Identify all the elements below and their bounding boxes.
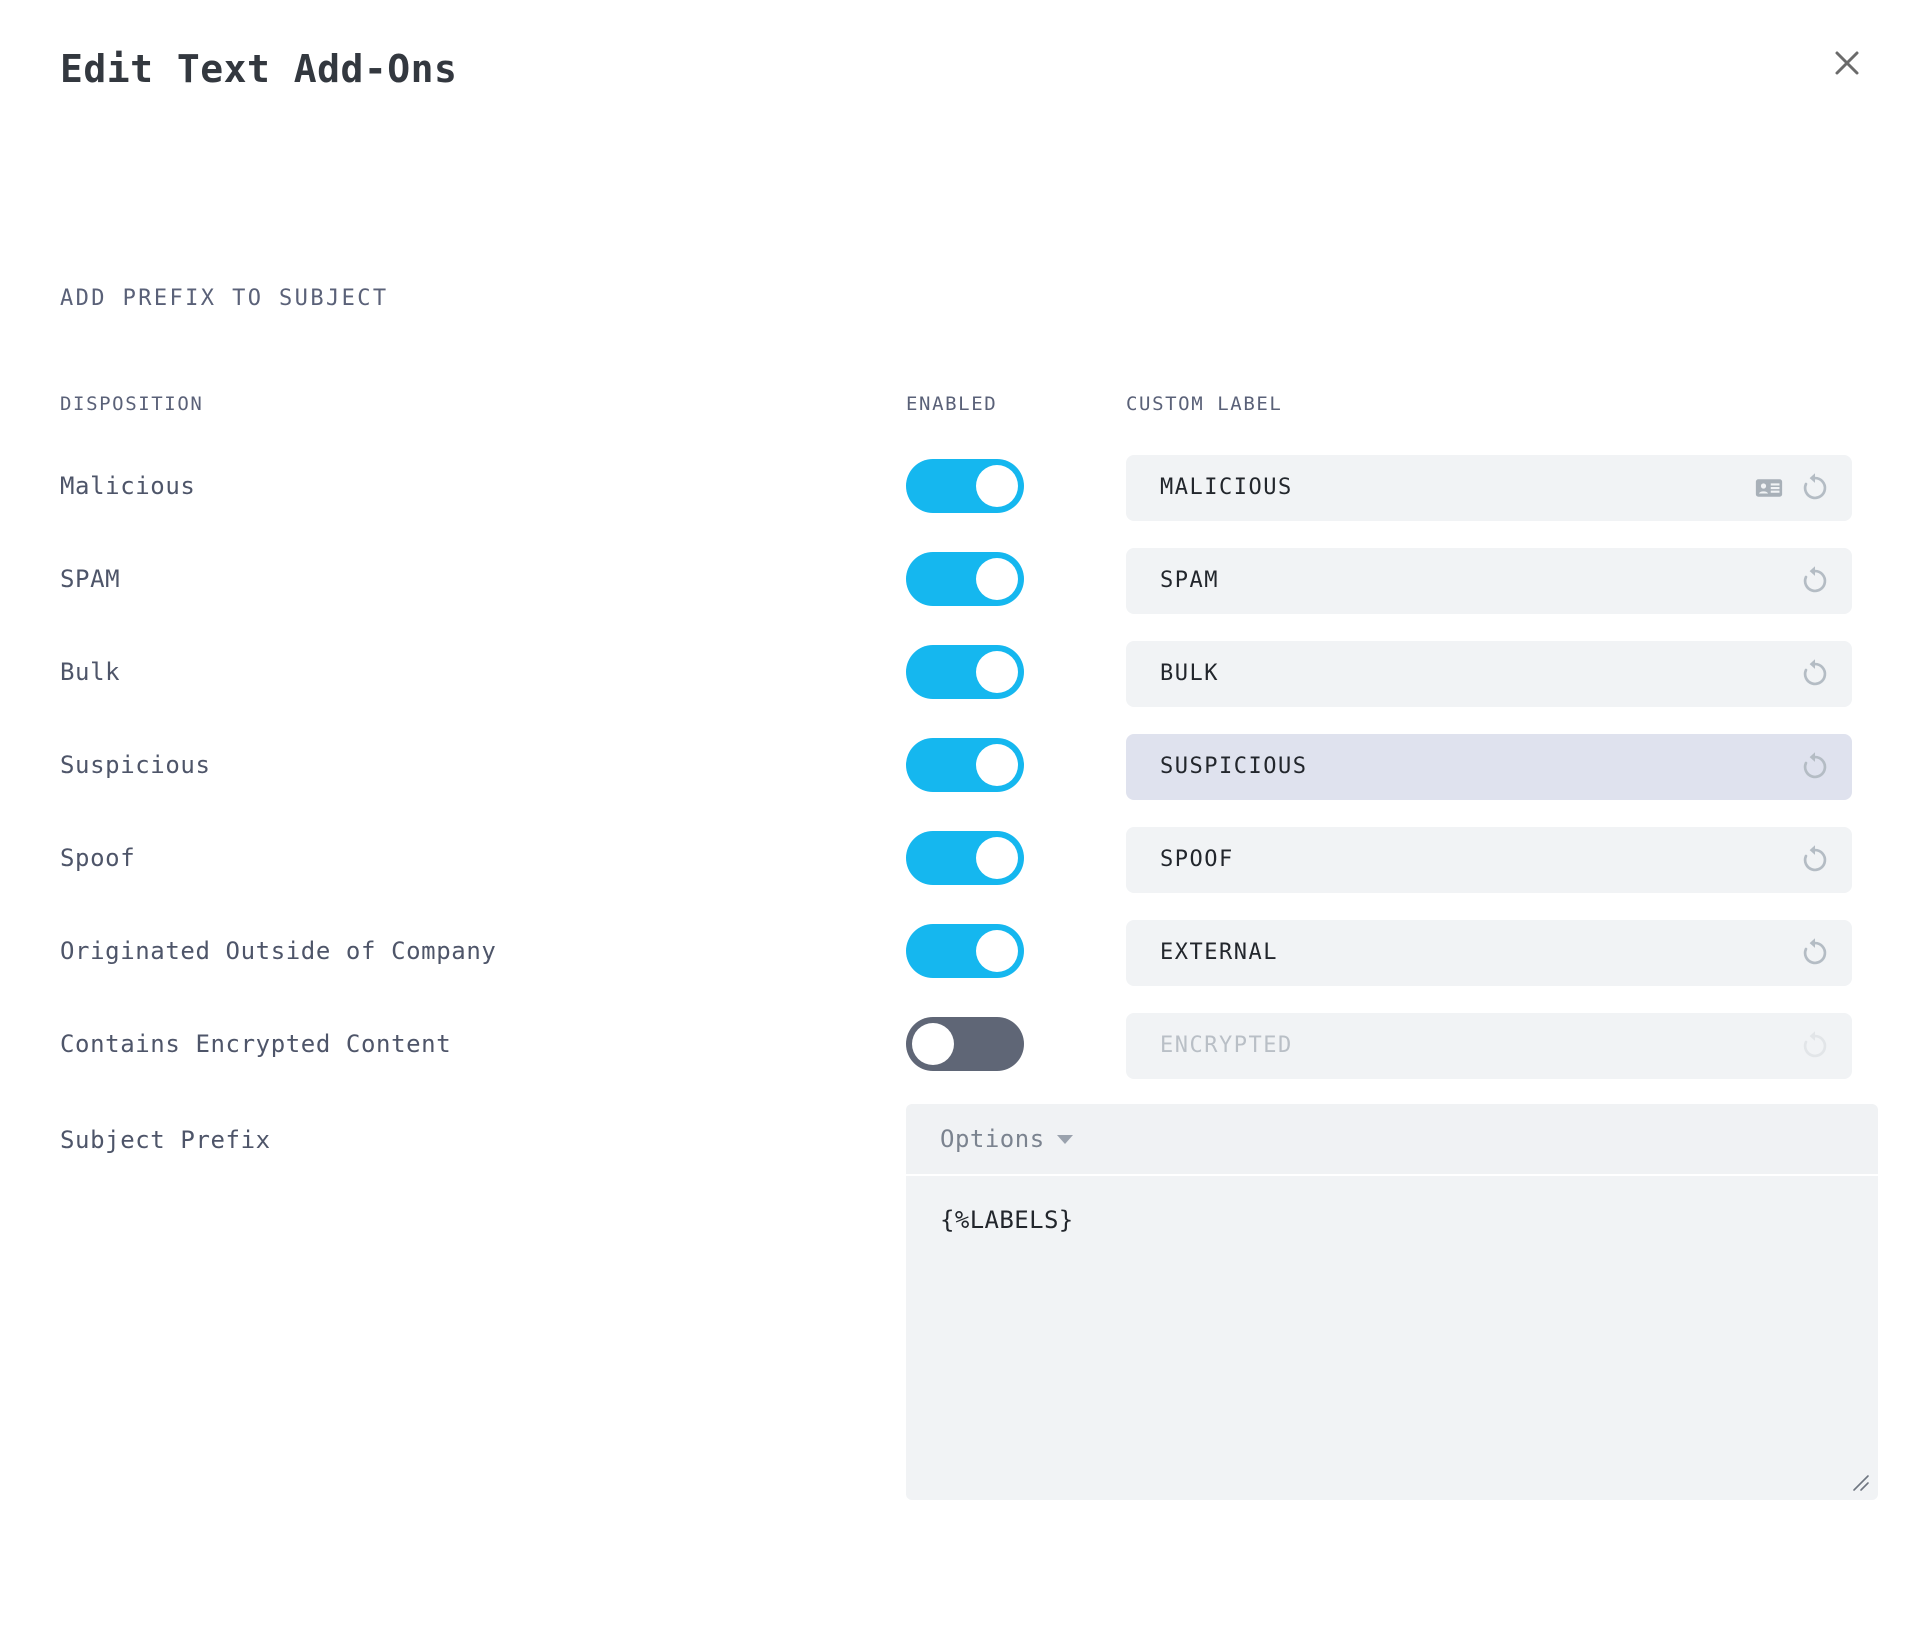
table-row: Originated Outside of CompanyEXTERNAL bbox=[0, 920, 1908, 1013]
custom-label-input[interactable]: BULK bbox=[1126, 641, 1852, 707]
column-header-disposition: DISPOSITION bbox=[60, 392, 203, 416]
custom-label-value: SUSPICIOUS bbox=[1160, 734, 1307, 800]
disposition-label: Bulk bbox=[60, 641, 120, 703]
enabled-toggle[interactable] bbox=[906, 924, 1024, 978]
custom-label-value: SPOOF bbox=[1160, 827, 1234, 893]
subject-prefix-editor: Options {%LABELS} bbox=[906, 1104, 1878, 1498]
field-icon-group bbox=[1754, 455, 1832, 521]
close-icon bbox=[1832, 48, 1862, 78]
custom-label-input[interactable]: SPAM bbox=[1126, 548, 1852, 614]
column-header-enabled: ENABLED bbox=[906, 392, 997, 416]
editor-toolbar: Options bbox=[906, 1104, 1878, 1174]
custom-label-input[interactable]: EXTERNAL bbox=[1126, 920, 1852, 986]
disposition-label: Malicious bbox=[60, 455, 195, 517]
disposition-label: Suspicious bbox=[60, 734, 211, 796]
disposition-label: Contains Encrypted Content bbox=[60, 1013, 451, 1075]
column-headers: DISPOSITION ENABLED CUSTOM LABEL bbox=[0, 392, 1908, 422]
options-dropdown-button[interactable]: Options bbox=[940, 1125, 1073, 1153]
toggle-knob bbox=[976, 837, 1018, 879]
subject-prefix-textarea[interactable]: {%LABELS} bbox=[906, 1174, 1878, 1500]
section-label: ADD PREFIX TO SUBJECT bbox=[60, 285, 389, 313]
reset-icon[interactable] bbox=[1798, 936, 1832, 970]
subject-prefix-value: {%LABELS} bbox=[940, 1206, 1074, 1234]
enabled-toggle[interactable] bbox=[906, 1017, 1024, 1071]
options-dropdown-label: Options bbox=[940, 1125, 1045, 1153]
table-row: MaliciousMALICIOUS bbox=[0, 455, 1908, 548]
reset-icon[interactable] bbox=[1798, 471, 1832, 505]
disposition-rows: MaliciousMALICIOUSSPAMSPAMBulkBULKSuspic… bbox=[0, 455, 1908, 1106]
custom-label-input[interactable]: ENCRYPTED bbox=[1126, 1013, 1852, 1079]
reset-icon[interactable] bbox=[1798, 657, 1832, 691]
disposition-label: Originated Outside of Company bbox=[60, 920, 496, 982]
field-icon-group bbox=[1798, 827, 1832, 893]
enabled-toggle[interactable] bbox=[906, 645, 1024, 699]
custom-label-value: MALICIOUS bbox=[1160, 455, 1293, 521]
chevron-down-icon bbox=[1057, 1135, 1073, 1144]
reset-icon[interactable] bbox=[1798, 750, 1832, 784]
contact-card-icon[interactable] bbox=[1754, 473, 1784, 503]
custom-label-value: ENCRYPTED bbox=[1160, 1013, 1293, 1079]
reset-icon bbox=[1798, 1029, 1832, 1063]
field-icon-group bbox=[1798, 920, 1832, 986]
table-row: Contains Encrypted ContentENCRYPTED bbox=[0, 1013, 1908, 1106]
toggle-knob bbox=[976, 558, 1018, 600]
disposition-label: SPAM bbox=[60, 548, 120, 610]
table-row: SpoofSPOOF bbox=[0, 827, 1908, 920]
field-icon-group bbox=[1798, 734, 1832, 800]
custom-label-value: SPAM bbox=[1160, 548, 1219, 614]
toggle-knob bbox=[976, 465, 1018, 507]
disposition-label: Spoof bbox=[60, 827, 135, 889]
table-row: SPAMSPAM bbox=[0, 548, 1908, 641]
dialog-header: Edit Text Add-Ons bbox=[60, 46, 1860, 106]
toggle-knob bbox=[912, 1023, 954, 1065]
reset-icon[interactable] bbox=[1798, 843, 1832, 877]
enabled-toggle[interactable] bbox=[906, 831, 1024, 885]
enabled-toggle[interactable] bbox=[906, 552, 1024, 606]
toggle-knob bbox=[976, 744, 1018, 786]
enabled-toggle[interactable] bbox=[906, 459, 1024, 513]
table-row: BulkBULK bbox=[0, 641, 1908, 734]
custom-label-value: EXTERNAL bbox=[1160, 920, 1278, 986]
column-header-custom-label: CUSTOM LABEL bbox=[1126, 392, 1282, 416]
subject-prefix-label: Subject Prefix bbox=[60, 1126, 271, 1154]
reset-icon[interactable] bbox=[1798, 564, 1832, 598]
resize-grip-handle[interactable] bbox=[1848, 1470, 1870, 1492]
table-row: SuspiciousSUSPICIOUS bbox=[0, 734, 1908, 827]
custom-label-input[interactable]: SUSPICIOUS bbox=[1126, 734, 1852, 800]
toggle-knob bbox=[976, 651, 1018, 693]
page-title: Edit Text Add-Ons bbox=[60, 46, 1860, 92]
custom-label-value: BULK bbox=[1160, 641, 1219, 707]
custom-label-input[interactable]: MALICIOUS bbox=[1126, 455, 1852, 521]
field-icon-group bbox=[1798, 641, 1832, 707]
edit-text-add-ons-dialog: Edit Text Add-Ons ADD PREFIX TO SUBJECT … bbox=[0, 0, 1908, 1650]
toggle-knob bbox=[976, 930, 1018, 972]
enabled-toggle[interactable] bbox=[906, 738, 1024, 792]
field-icon-group bbox=[1798, 1013, 1832, 1079]
close-button[interactable] bbox=[1824, 40, 1870, 86]
custom-label-input[interactable]: SPOOF bbox=[1126, 827, 1852, 893]
field-icon-group bbox=[1798, 548, 1832, 614]
